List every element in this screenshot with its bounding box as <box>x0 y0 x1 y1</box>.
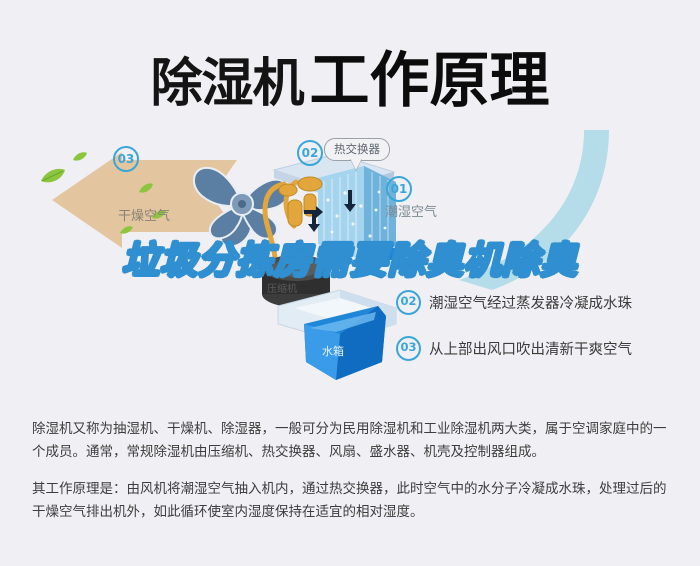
step-item-03: 03 从上部出风口吹出清新干爽空气 <box>396 337 696 359</box>
step-text-02: 潮湿空气经过蒸发器冷凝成水珠 <box>429 292 632 313</box>
body-copy: 除湿机又称为抽湿机、干燥机、除湿器，一般可分为民用除湿机和工业除湿机两大类，属于… <box>32 418 672 538</box>
paragraph-two: 其工作原理是：由风机将潮湿空气抽入机内，通过热交换器，此时空气中的水分子冷凝成水… <box>32 478 672 524</box>
callout-tail-icon <box>350 158 362 170</box>
step-badge-01: 01 <box>396 244 421 269</box>
paragraph-one: 除湿机又称为抽湿机、干燥机、除湿器，一般可分为民用除湿机和工业除湿机两大类，属于… <box>32 418 672 464</box>
label-humid-air: 潮湿空气 <box>385 201 437 220</box>
step-text-03: 从上部出风口吹出清新干爽空气 <box>429 338 632 359</box>
leaf-icon <box>73 152 88 162</box>
label-compressor: 压缩机 <box>267 280 297 295</box>
diagram-badge-02: 02 <box>297 140 323 166</box>
steps-list: 01 风机将潮湿空气抽入机内 02 潮湿空气经过蒸发器冷凝成水珠 03 从上部出… <box>396 245 696 383</box>
diagram-badge-01: 01 <box>386 176 412 202</box>
leaf-icon <box>40 168 66 184</box>
label-dry-air: 干燥空气 <box>118 205 170 224</box>
step-badge-02: 02 <box>396 290 421 315</box>
airflow-arrow-icon <box>356 245 400 268</box>
diagram-badge-03: 03 <box>113 146 139 172</box>
infographic-page: 除湿机工作原理 <box>0 0 700 566</box>
leaf-icon <box>120 226 134 235</box>
title-part-two: 工作原理 <box>310 46 550 116</box>
step-item-02: 02 潮湿空气经过蒸发器冷凝成水珠 <box>396 291 696 313</box>
title-part-one: 除湿机 <box>150 54 303 114</box>
step-text-01: 风机将潮湿空气抽入机内 <box>429 246 589 267</box>
leaf-icon <box>138 183 154 194</box>
label-water-tank: 水箱 <box>322 343 344 359</box>
step-badge-03: 03 <box>396 336 421 361</box>
page-title: 除湿机工作原理 <box>0 32 700 119</box>
